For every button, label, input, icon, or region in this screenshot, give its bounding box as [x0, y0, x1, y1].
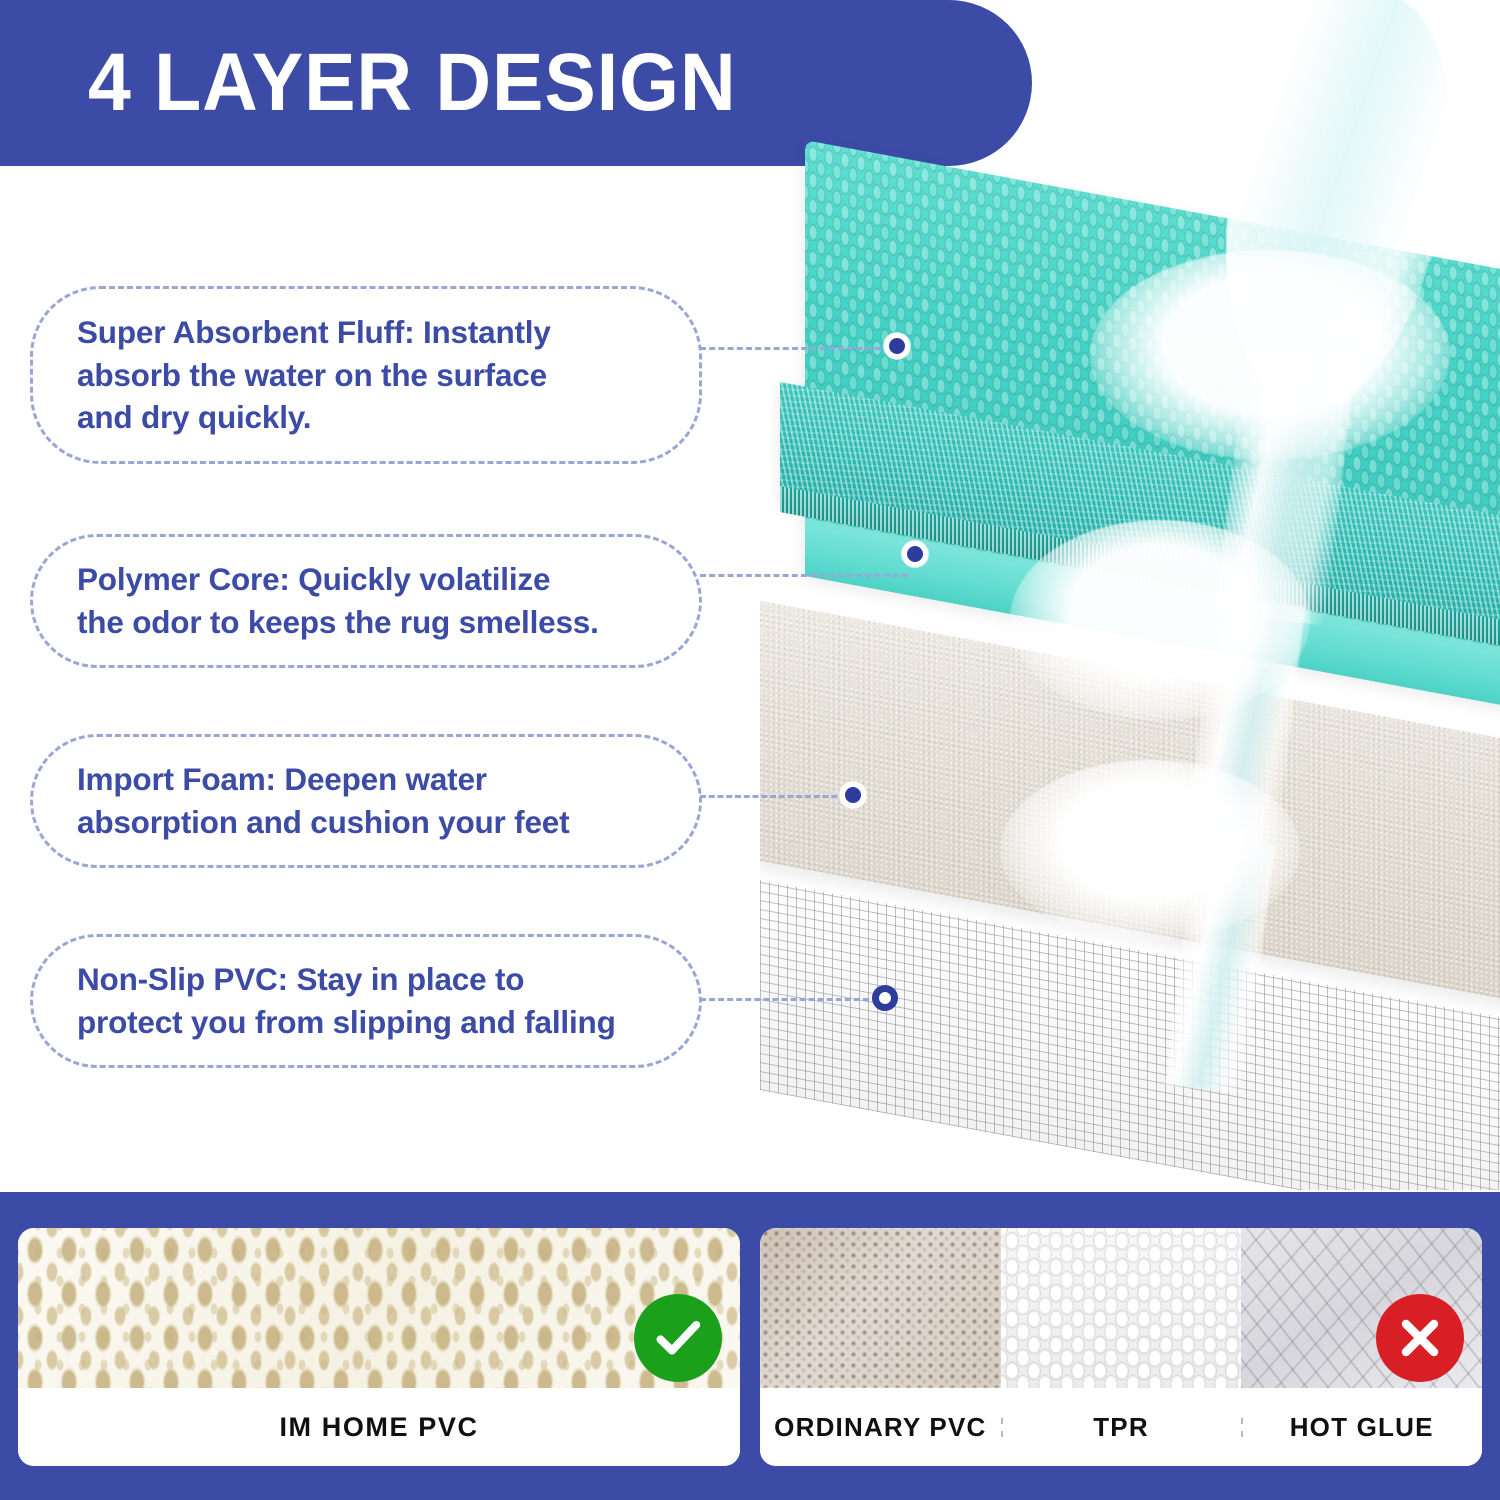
- label-im-home-pvc: IM HOME PVC: [18, 1412, 740, 1443]
- swatch-row-bad: [760, 1228, 1482, 1388]
- connector-line-import-foam: [700, 795, 846, 798]
- infographic-page: 4 LAYER DESIGN Super Absorbent Fluff: In…: [0, 0, 1500, 1500]
- connector-dot-non-slip-pvc: [872, 985, 898, 1011]
- label-row-good: IM HOME PVC: [18, 1388, 740, 1466]
- label-ordinary-pvc: ORDINARY PVC: [760, 1412, 1001, 1443]
- label-row-bad: ORDINARY PVC TPR HOT GLUE: [760, 1388, 1482, 1466]
- water-splash-top: [1090, 250, 1450, 460]
- water-splash-bottom: [1000, 760, 1300, 940]
- connector-dot-super-absorbent-fluff: [884, 333, 910, 359]
- connector-dot-import-foam: [840, 782, 866, 808]
- connector-dot-polymer-core: [902, 541, 928, 567]
- callout-text-super-absorbent-fluff: Super Absorbent Fluff: Instantly absorb …: [77, 311, 551, 439]
- callout-non-slip-pvc: Non-Slip PVC: Stay in place to protect y…: [30, 934, 702, 1068]
- comparison-card-bad: ORDINARY PVC TPR HOT GLUE: [760, 1228, 1482, 1466]
- callout-super-absorbent-fluff: Super Absorbent Fluff: Instantly absorb …: [30, 286, 702, 464]
- callout-polymer-core: Polymer Core: Quickly volatilize the odo…: [30, 534, 702, 668]
- connector-line-polymer-core: [700, 574, 908, 577]
- connector-line-super-absorbent-fluff: [700, 347, 890, 350]
- label-tpr: TPR: [1001, 1412, 1242, 1443]
- swatch-tpr: [1001, 1228, 1242, 1388]
- callout-text-import-foam: Import Foam: Deepen water absorption and…: [77, 758, 569, 844]
- callout-text-polymer-core: Polymer Core: Quickly volatilize the odo…: [77, 558, 599, 644]
- swatch-ordinary-pvc: [760, 1228, 1001, 1388]
- page-title: 4 LAYER DESIGN: [88, 36, 737, 130]
- callout-import-foam: Import Foam: Deepen water absorption and…: [30, 734, 702, 868]
- water-splash-middle: [1010, 520, 1310, 720]
- callout-text-non-slip-pvc: Non-Slip PVC: Stay in place to protect y…: [77, 958, 616, 1044]
- label-hot-glue: HOT GLUE: [1241, 1412, 1482, 1443]
- comparison-card-good: IM HOME PVC: [18, 1228, 740, 1466]
- product-layer-illustration: [760, 0, 1500, 1190]
- comparison-strip: IM HOME PVC ORDINARY PVC TPR HOT GLUE: [0, 1192, 1500, 1500]
- connector-line-non-slip-pvc: [700, 998, 878, 1001]
- cross-icon: [1376, 1294, 1464, 1382]
- swatch-row-good: [18, 1228, 740, 1388]
- check-icon: [634, 1294, 722, 1382]
- swatch-im-home-pvc: [18, 1228, 740, 1388]
